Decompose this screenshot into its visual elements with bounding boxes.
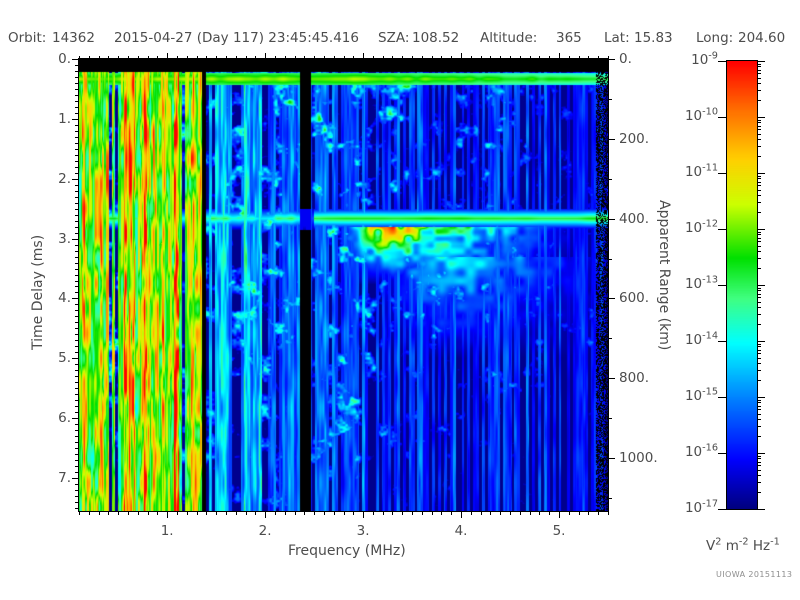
x-tick-minor (392, 511, 393, 515)
y-tick-minor (75, 442, 79, 443)
colorbar-tick-major (757, 61, 765, 62)
y-tick-minor (75, 406, 79, 407)
x-tick-minor (569, 511, 570, 515)
colorbar-tick-label--16: 10-16 (660, 444, 718, 460)
y-tick-minor (75, 460, 79, 461)
x-tick-top-minor (608, 56, 609, 59)
x-tick-minor (255, 511, 256, 515)
x-tick-top-minor (530, 56, 531, 59)
x-tick-top-major (363, 53, 364, 59)
x-tick-top-minor (108, 56, 109, 59)
x-tick-top-minor (236, 56, 237, 59)
colorbar-unit-label: V2 m-2 Hz-1 (706, 538, 780, 554)
y-tick-major (72, 418, 79, 419)
x-tick-minor (432, 511, 433, 515)
x-tick-top-minor (373, 56, 374, 59)
y2-tick-major (608, 59, 615, 60)
x-tick-minor (295, 511, 296, 515)
colorbar-tick-label--17: 10-17 (660, 500, 718, 516)
x-tick-top-minor (422, 56, 423, 59)
y-tick-minor (75, 95, 79, 96)
colorbar-tick-minor (757, 202, 761, 203)
x-tick-top-minor (255, 56, 256, 59)
y-tick-minor (75, 191, 79, 192)
y-tick-minor (75, 454, 79, 455)
x-tick-top-minor (285, 56, 286, 59)
y2-tick-label-800: 800. (619, 370, 649, 386)
colorbar-tick-minor (757, 419, 761, 420)
colorbar-tick-major (757, 229, 765, 230)
x-tick-top-minor (441, 56, 442, 59)
x-tick-minor (549, 511, 550, 515)
y2-tick-label-1000: 1000. (619, 450, 658, 466)
y-tick-minor (75, 424, 79, 425)
y-tick-minor (75, 281, 79, 282)
y-tick-minor (75, 263, 79, 264)
y-tick-minor (75, 149, 79, 150)
x-tick-top-minor (226, 56, 227, 59)
x-tick-label-2: 2. (253, 523, 277, 539)
colorbar-tick-minor (757, 324, 761, 325)
x-tick-top-minor (471, 56, 472, 59)
y-tick-minor (75, 394, 79, 395)
x-tick-top-minor (402, 56, 403, 59)
colorbar-tick-minor (757, 350, 761, 351)
x-tick-top-minor (579, 56, 580, 59)
x-tick-top-minor (520, 56, 521, 59)
colorbar-tick-minor (757, 402, 761, 403)
x-tick-minor (490, 511, 491, 515)
x-tick-top-minor (275, 56, 276, 59)
x-tick-minor (441, 511, 442, 515)
x-tick-top-major (265, 53, 266, 59)
colorbar-tick-minor (757, 346, 761, 347)
y2-tick-minor (608, 179, 612, 180)
y-tick-label-0: 0. (21, 51, 71, 67)
header-metadata: Orbit: 14362 2015-04-27 (Day 117) 23:45:… (0, 30, 800, 48)
y-tick-minor (75, 292, 79, 293)
colorbar-tick-minor (757, 238, 761, 239)
y-tick-minor (75, 448, 79, 449)
ionogram-figure: Orbit: 14362 2015-04-27 (Day 117) 23:45:… (0, 0, 800, 600)
x-tick-minor (500, 511, 501, 515)
colorbar-tick-major (757, 341, 765, 342)
y-tick-minor (75, 143, 79, 144)
x-tick-top-major (461, 53, 462, 59)
x-tick-minor (579, 511, 580, 515)
x-tick-minor (89, 511, 90, 515)
altitude-value: 365 (556, 30, 582, 46)
x-tick-minor (108, 511, 109, 515)
colorbar-tick-minor (757, 195, 761, 196)
x-tick-top-minor (177, 56, 178, 59)
y-tick-minor (75, 352, 79, 353)
x-tick-minor (236, 511, 237, 515)
x-tick-top-minor (206, 56, 207, 59)
observation-datetime: 2015-04-27 (Day 117) 23:45:45.416 (114, 30, 359, 46)
y-tick-minor (75, 71, 79, 72)
x-tick-minor (334, 511, 335, 515)
colorbar-tick-minor (757, 232, 761, 233)
x-tick-top-minor (432, 56, 433, 59)
colorbar-tick-minor (757, 190, 761, 191)
x-tick-top-minor (353, 56, 354, 59)
colorbar-tick-minor (757, 66, 761, 67)
x-tick-minor (197, 511, 198, 515)
colorbar-tick-minor (757, 100, 761, 101)
colorbar-tick-minor (757, 470, 761, 471)
y-tick-minor (75, 502, 79, 503)
x-tick-top-minor (304, 56, 305, 59)
x-tick-label-4: 4. (449, 523, 473, 539)
x-tick-minor (177, 511, 178, 515)
x-tick-minor (226, 511, 227, 515)
y-tick-minor (75, 245, 79, 246)
y-tick-minor (75, 227, 79, 228)
x-tick-major (363, 511, 364, 518)
y-tick-minor (75, 77, 79, 78)
spectrogram-canvas (79, 59, 608, 511)
y2-tick-label-200: 200. (619, 131, 649, 147)
colorbar-tick-minor (757, 251, 761, 252)
x-tick-top-minor (510, 56, 511, 59)
x-tick-minor (314, 511, 315, 515)
x-tick-top-minor (295, 56, 296, 59)
y-tick-minor (75, 203, 79, 204)
y-tick-minor (75, 388, 79, 389)
colorbar-tick-minor (757, 462, 761, 463)
colorbar-tick-label--9: 10-9 (660, 52, 718, 68)
x-axis-title: Frequency (MHz) (288, 543, 406, 559)
y-tick-minor (75, 161, 79, 162)
y-tick-major (72, 59, 79, 60)
colorbar-tick-minor (757, 126, 761, 127)
colorbar-tick-major (757, 509, 765, 510)
colorbar-tick-major-left (718, 397, 726, 398)
colorbar-tick-minor (757, 370, 761, 371)
colorbar-tick-minor (757, 307, 761, 308)
y-tick-minor (75, 197, 79, 198)
y2-tick-minor (608, 259, 612, 260)
y-tick-major (72, 358, 79, 359)
altitude-label: Altitude: (480, 30, 537, 46)
x-tick-minor (539, 511, 540, 515)
sza-label: SZA: (378, 30, 409, 46)
y-tick-minor (75, 508, 79, 509)
lat-value: 15.83 (634, 30, 673, 46)
x-tick-top-minor (324, 56, 325, 59)
x-tick-top-minor (344, 56, 345, 59)
colorbar-tick-minor (757, 176, 761, 177)
orbit-label: Orbit: (8, 30, 46, 46)
x-tick-minor (412, 511, 413, 515)
colorbar-tick-minor (757, 458, 761, 459)
y-tick-label-3: 3. (21, 231, 71, 247)
colorbar-tick-minor (757, 178, 761, 179)
y-tick-minor (75, 131, 79, 132)
y2-tick-major (608, 378, 615, 379)
y-tick-label-5: 5. (21, 350, 71, 366)
colorbar-tick-minor (757, 139, 761, 140)
colorbar-tick-minor (757, 246, 761, 247)
colorbar-tick-minor (757, 436, 761, 437)
colorbar-tick-major (757, 285, 765, 286)
colorbar-tick-minor (757, 134, 761, 135)
colorbar-tick-minor (757, 241, 761, 242)
x-tick-top-minor (500, 56, 501, 59)
colorbar-tick-minor (757, 290, 761, 291)
colorbar-tick-minor (757, 400, 761, 401)
colorbar-tick-minor (757, 344, 761, 345)
y-tick-minor (75, 490, 79, 491)
x-tick-top-minor (539, 56, 540, 59)
watermark: UIOWA 20151113 (716, 570, 792, 579)
colorbar-tick-major-left (718, 61, 726, 62)
colorbar-tick-minor (757, 302, 761, 303)
y-tick-label-2: 2. (21, 171, 71, 187)
y-tick-minor (75, 370, 79, 371)
x-tick-minor (481, 511, 482, 515)
x-tick-minor (373, 511, 374, 515)
x-tick-major (167, 511, 168, 518)
x-tick-top-minor (569, 56, 570, 59)
colorbar-tick-major-left (718, 285, 726, 286)
y-tick-minor (75, 125, 79, 126)
y-tick-minor (75, 310, 79, 311)
colorbar-tick-minor (757, 78, 761, 79)
y-tick-minor (75, 364, 79, 365)
x-tick-top-minor (246, 56, 247, 59)
long-label: Long: (696, 30, 733, 46)
y-tick-label-7: 7. (21, 470, 71, 486)
x-tick-minor (510, 511, 511, 515)
y-tick-minor (75, 65, 79, 66)
x-tick-top-major (167, 53, 168, 59)
colorbar-tick-minor (757, 73, 761, 74)
y2-tick-major (608, 298, 615, 299)
y-tick-minor (75, 382, 79, 383)
colorbar-tick-minor (757, 129, 761, 130)
y-tick-minor (75, 436, 79, 437)
y-tick-minor (75, 328, 79, 329)
y-tick-minor (75, 340, 79, 341)
y2-tick-label-0: 0. (619, 51, 632, 67)
x-tick-minor (216, 511, 217, 515)
x-tick-major (461, 511, 462, 518)
x-tick-top-minor (451, 56, 452, 59)
x-tick-minor (148, 511, 149, 515)
y-tick-minor (75, 304, 79, 305)
x-tick-minor (353, 511, 354, 515)
y-tick-minor (75, 430, 79, 431)
x-tick-minor (588, 511, 589, 515)
x-tick-minor (304, 511, 305, 515)
y-tick-label-1: 1. (21, 111, 71, 127)
x-tick-minor (422, 511, 423, 515)
x-tick-top-minor (383, 56, 384, 59)
x-tick-minor (99, 511, 100, 515)
x-tick-minor (275, 511, 276, 515)
colorbar-tick-minor (757, 120, 761, 121)
y-tick-minor (75, 221, 79, 222)
colorbar-tick-minor (757, 146, 761, 147)
colorbar-tick-major-left (718, 453, 726, 454)
y-tick-minor (75, 346, 79, 347)
y2-tick-minor (608, 498, 612, 499)
y2-tick-major (608, 458, 615, 459)
colorbar-tick-label--15: 10-15 (660, 388, 718, 404)
x-tick-top-minor (588, 56, 589, 59)
colorbar-tick-minor (757, 409, 761, 410)
y-tick-minor (75, 322, 79, 323)
x-tick-minor (206, 511, 207, 515)
x-tick-minor (520, 511, 521, 515)
x-tick-major (265, 511, 266, 518)
x-tick-top-minor (118, 56, 119, 59)
x-tick-top-minor (549, 56, 550, 59)
colorbar-tick-minor (757, 288, 761, 289)
x-tick-top-minor (334, 56, 335, 59)
x-tick-top-minor (197, 56, 198, 59)
y-tick-minor (75, 233, 79, 234)
y-tick-major (72, 179, 79, 180)
colorbar-tick-minor (757, 358, 761, 359)
x-tick-top-minor (128, 56, 129, 59)
x-tick-major (559, 511, 560, 518)
colorbar-tick-major-left (718, 117, 726, 118)
x-tick-top-minor (99, 56, 100, 59)
y-axis-title: Time Delay (ms) (30, 235, 46, 350)
colorbar-tick-label--10: 10-10 (660, 108, 718, 124)
y-tick-major (72, 298, 79, 299)
x-tick-minor (187, 511, 188, 515)
colorbar-tick-minor (757, 185, 761, 186)
spectrogram-plot-area (78, 58, 609, 512)
colorbar-tick-major-left (718, 229, 726, 230)
y-tick-minor (75, 275, 79, 276)
colorbar (726, 60, 758, 510)
y2-tick-major (608, 219, 615, 220)
y2-tick-minor (608, 99, 612, 100)
colorbar-tick-label--13: 10-13 (660, 276, 718, 292)
x-tick-top-minor (481, 56, 482, 59)
y-tick-minor (75, 215, 79, 216)
x-tick-minor (157, 511, 158, 515)
x-tick-top-minor (79, 56, 80, 59)
colorbar-tick-major-left (718, 173, 726, 174)
colorbar-tick-minor (757, 297, 761, 298)
colorbar-gradient (727, 61, 757, 509)
x-tick-label-5: 5. (547, 523, 571, 539)
y-tick-minor (75, 101, 79, 102)
y-tick-label-6: 6. (21, 410, 71, 426)
colorbar-tick-minor (757, 70, 761, 71)
x-tick-minor (402, 511, 403, 515)
y-tick-minor (75, 209, 79, 210)
colorbar-tick-minor (757, 258, 761, 259)
y-tick-minor (75, 83, 79, 84)
colorbar-tick-minor (757, 465, 761, 466)
x-tick-minor (344, 511, 345, 515)
x-tick-minor (324, 511, 325, 515)
y-tick-minor (75, 412, 79, 413)
colorbar-tick-major (757, 173, 765, 174)
colorbar-tick-minor (757, 64, 761, 65)
colorbar-tick-minor (757, 475, 761, 476)
y-tick-minor (75, 155, 79, 156)
colorbar-tick-minor (757, 482, 761, 483)
colorbar-tick-minor (757, 314, 761, 315)
colorbar-tick-minor (757, 492, 761, 493)
y-tick-minor (75, 269, 79, 270)
y-tick-minor (75, 113, 79, 114)
colorbar-tick-minor (757, 212, 761, 213)
colorbar-tick-minor (757, 122, 761, 123)
x-tick-minor (138, 511, 139, 515)
colorbar-tick-label--11: 10-11 (660, 164, 718, 180)
colorbar-tick-major (757, 453, 765, 454)
x-tick-top-minor (89, 56, 90, 59)
x-tick-top-minor (314, 56, 315, 59)
y-tick-minor (75, 257, 79, 258)
colorbar-tick-minor (757, 83, 761, 84)
y-tick-minor (75, 167, 79, 168)
sza-value: 108.52 (412, 30, 459, 46)
y-tick-minor (75, 286, 79, 287)
y-tick-minor (75, 400, 79, 401)
y-tick-major (72, 119, 79, 120)
x-tick-minor (285, 511, 286, 515)
y-tick-major (72, 239, 79, 240)
x-tick-top-minor (187, 56, 188, 59)
y-tick-minor (75, 472, 79, 473)
y-tick-minor (75, 484, 79, 485)
y-tick-minor (75, 89, 79, 90)
colorbar-tick-minor (757, 353, 761, 354)
colorbar-tick-minor (757, 90, 761, 91)
y2-tick-label-600: 600. (619, 290, 649, 306)
x-tick-label-1: 1. (155, 523, 179, 539)
colorbar-tick-minor (757, 380, 761, 381)
x-tick-minor (530, 511, 531, 515)
colorbar-tick-minor (757, 406, 761, 407)
colorbar-tick-major-left (718, 509, 726, 510)
y2-tick-label-400: 400. (619, 211, 649, 227)
lat-label: Lat: (604, 30, 630, 46)
x-tick-top-minor (157, 56, 158, 59)
colorbar-tick-minor (757, 426, 761, 427)
long-value: 204.60 (738, 30, 785, 46)
x-tick-minor (246, 511, 247, 515)
x-tick-top-minor (490, 56, 491, 59)
colorbar-tick-minor (757, 234, 761, 235)
colorbar-tick-label--14: 10-14 (660, 332, 718, 348)
x-tick-minor (128, 511, 129, 515)
y-tick-label-4: 4. (21, 290, 71, 306)
x-tick-top-minor (216, 56, 217, 59)
y-tick-minor (75, 334, 79, 335)
colorbar-tick-minor (757, 182, 761, 183)
x-tick-top-major (559, 53, 560, 59)
y-tick-minor (75, 496, 79, 497)
colorbar-tick-major-left (718, 341, 726, 342)
y-tick-minor (75, 376, 79, 377)
y-tick-minor (75, 466, 79, 467)
y2-tick-minor (608, 338, 612, 339)
colorbar-tick-minor (757, 156, 761, 157)
x-tick-top-minor (598, 56, 599, 59)
x-tick-top-minor (412, 56, 413, 59)
